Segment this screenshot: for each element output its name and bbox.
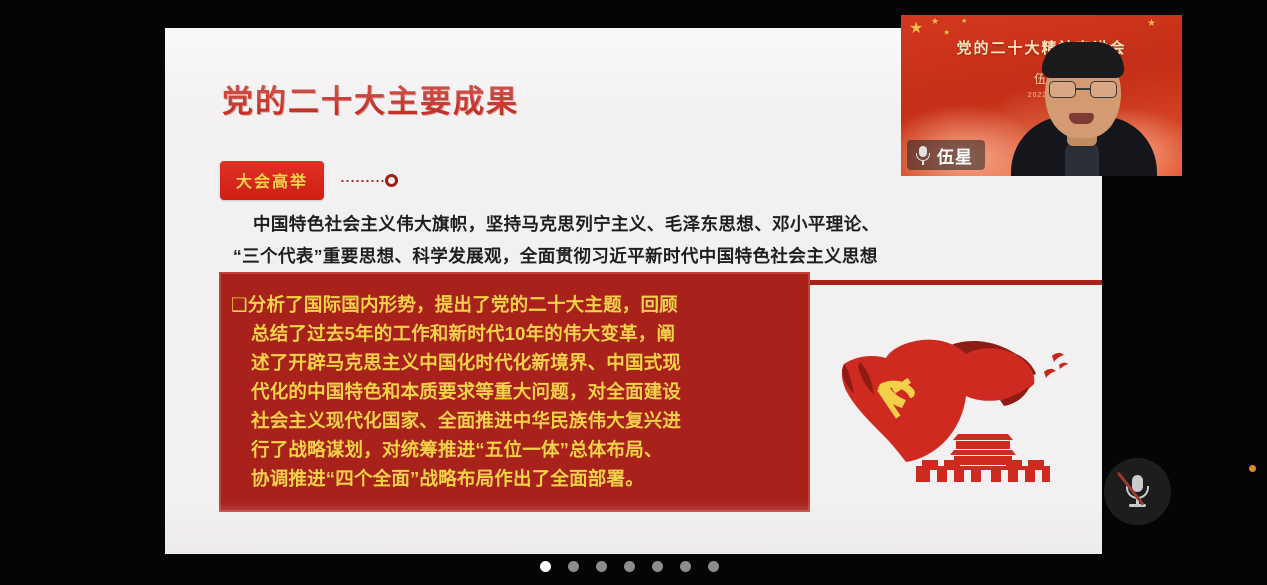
portrait-shirt xyxy=(1065,142,1099,176)
pagination-dot-4[interactable] xyxy=(624,561,635,572)
participant-name-plate: 伍星 xyxy=(907,140,985,170)
participant-video-tile[interactable]: ★ ★ ★ ★ ★ 党的二十大精神宣讲会 伍 2022年 伍星 xyxy=(901,15,1182,176)
glasses-bridge xyxy=(1076,88,1090,90)
slide-content-text: ❑分析了国际国内形势，提出了党的二十大主题，回顾 总结了过去5年的工作和新时代1… xyxy=(231,290,794,493)
star-icon: ★ xyxy=(909,21,923,37)
portrait-mouth xyxy=(1069,113,1094,124)
content-line: 总结了过去5年的工作和新时代10年的伟大变革，阐 xyxy=(231,319,794,348)
content-line: 述了开辟马克思主义中国化时代化新境界、中国式现 xyxy=(231,348,794,377)
content-line: 社会主义现代化国家、全面推进中华民族伟大复兴进 xyxy=(231,406,794,435)
headline-line: 中国特色社会主义伟大旗帜，坚持马克思列宁主义、毛泽东思想、邓小平理论、 xyxy=(223,208,1053,240)
content-line: 代化的中国特色和本质要求等重大问题，对全面建设 xyxy=(231,377,794,406)
star-icon: ★ xyxy=(931,17,939,26)
mute-microphone-button[interactable] xyxy=(1104,458,1171,525)
page-title: 党的二十大主要成果 xyxy=(222,76,519,121)
circle-marker-icon xyxy=(385,174,398,187)
microphone-icon xyxy=(915,146,930,165)
pagination-dot-1[interactable] xyxy=(540,561,551,572)
status-indicator-dot xyxy=(1249,465,1256,472)
microphone-muted-icon xyxy=(1126,475,1149,507)
section-badge-row: 大会高举 xyxy=(220,161,398,200)
slide-pagination[interactable] xyxy=(540,561,719,572)
status-badge: 大会高举 xyxy=(220,161,324,200)
glasses-lens-right xyxy=(1090,81,1117,98)
slide-content-box: ❑分析了国际国内形势，提出了党的二十大主题，回顾 总结了过去5年的工作和新时代1… xyxy=(219,272,810,512)
participant-portrait xyxy=(1009,32,1159,176)
star-icon: ★ xyxy=(943,29,950,37)
glasses-lens-left xyxy=(1049,81,1076,98)
headline-line: “三个代表”重要思想、科学发展观，全面贯彻习近平新时代中国特色社会主义思想 xyxy=(223,240,1053,272)
content-line: 行了战略谋划，对统筹推进“五位一体”总体布局、 xyxy=(231,435,794,464)
slide-headline: 中国特色社会主义伟大旗帜，坚持马克思列宁主义、毛泽东思想、邓小平理论、 “三个代… xyxy=(223,208,1053,272)
meeting-screen-share-stage: 党的二十大主要成果 大会高举 中国特色社会主义伟大旗帜，坚持马克思列宁主义、毛泽… xyxy=(0,0,1267,585)
pagination-dot-6[interactable] xyxy=(680,561,691,572)
pagination-dot-2[interactable] xyxy=(568,561,579,572)
content-line: ❑分析了国际国内形势，提出了党的二十大主题，回顾 xyxy=(231,290,794,319)
participant-name: 伍星 xyxy=(937,143,973,168)
star-icon: ★ xyxy=(1147,19,1156,29)
star-icon: ★ xyxy=(961,18,967,25)
portrait-hair xyxy=(1042,42,1124,78)
pagination-dot-3[interactable] xyxy=(596,561,607,572)
dotted-connector-line xyxy=(340,180,384,182)
party-flag-icon xyxy=(830,328,1080,488)
pagination-dot-7[interactable] xyxy=(708,561,719,572)
content-line: 协调推进“四个全面”战略布局作出了全面部署。 xyxy=(231,464,794,493)
glasses-icon xyxy=(1047,81,1119,98)
pagination-dot-5[interactable] xyxy=(652,561,663,572)
